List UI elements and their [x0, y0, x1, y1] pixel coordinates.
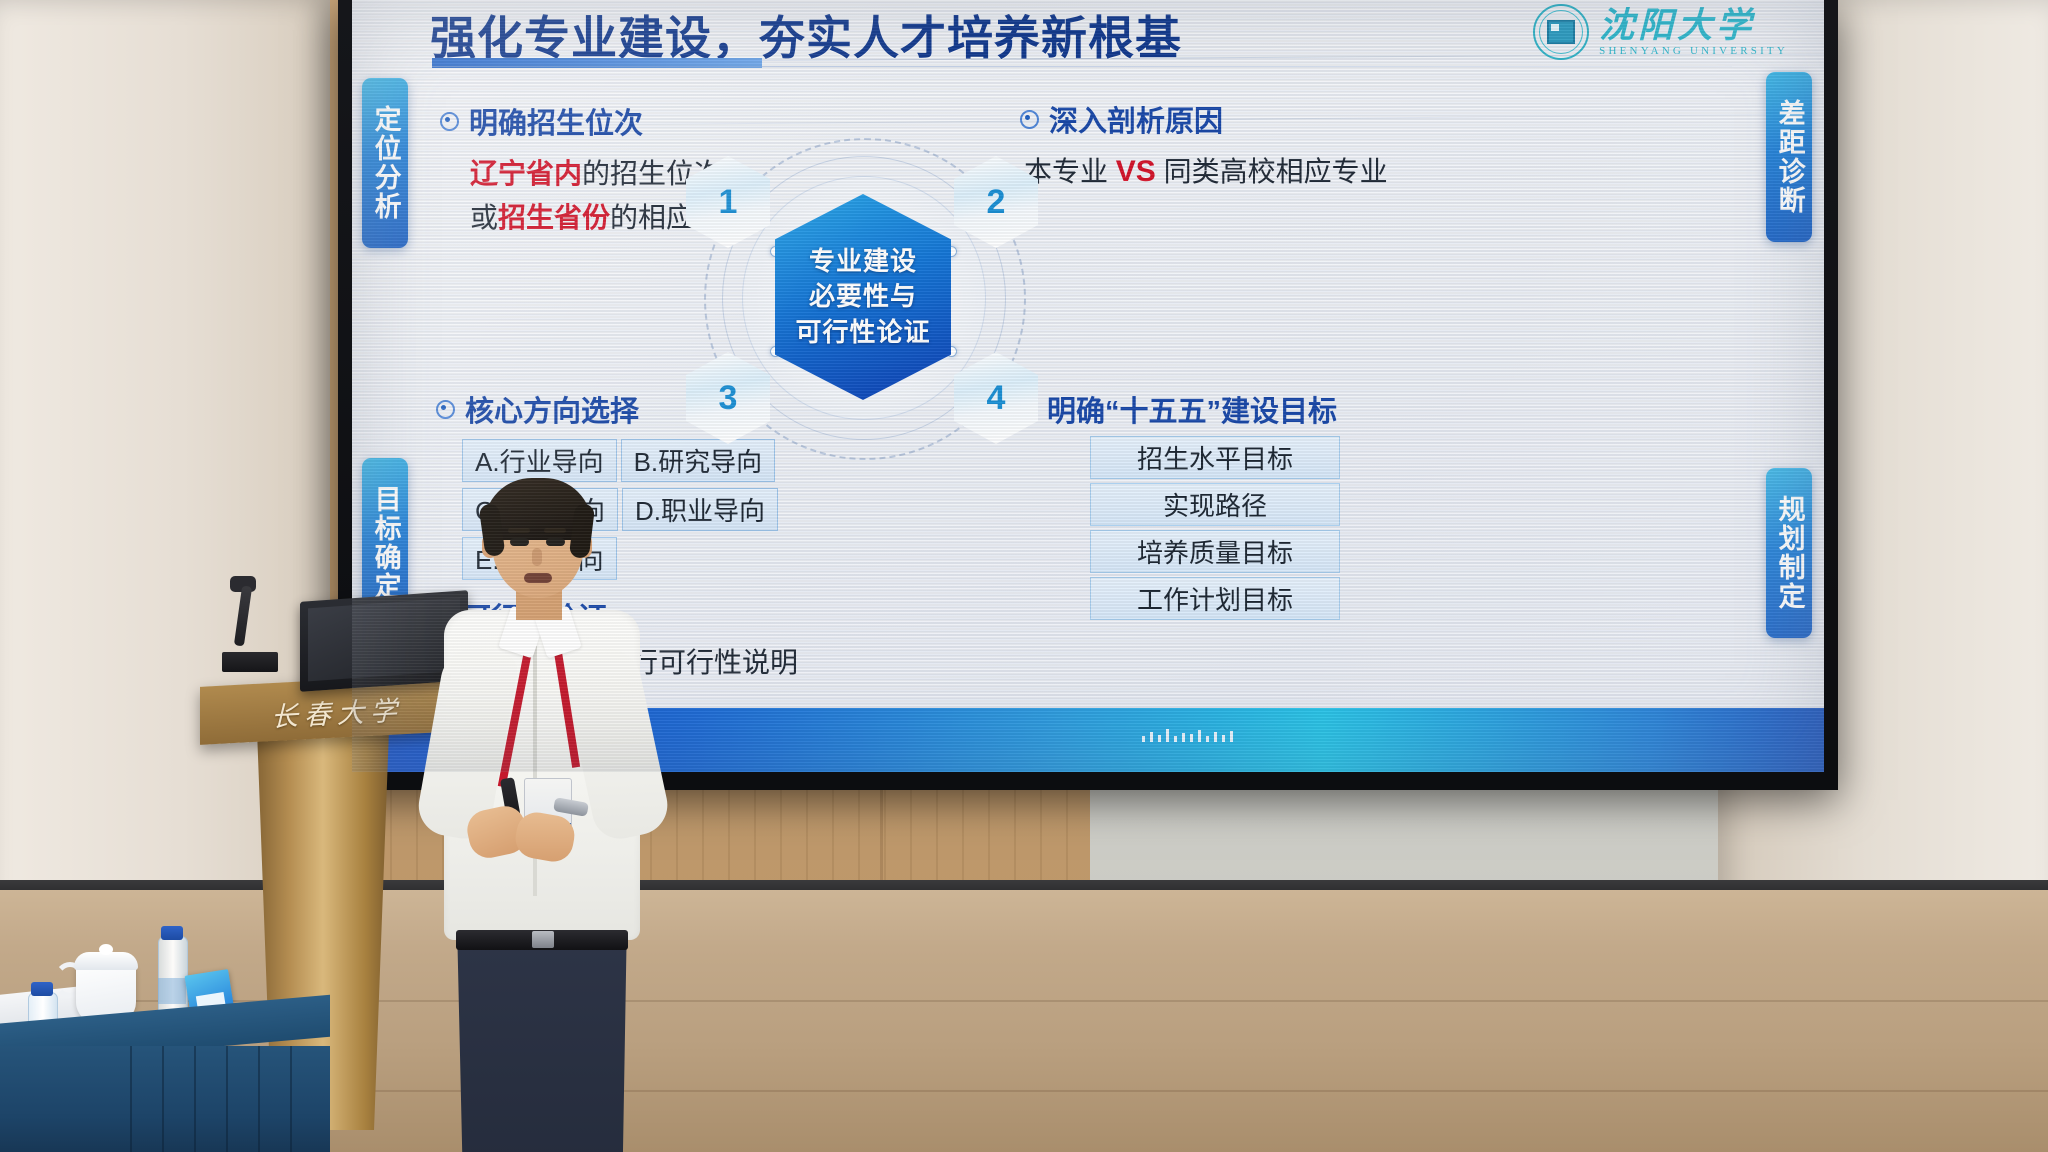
block-heading: 深入剖析原因 [1020, 98, 1388, 140]
block-construction-goals: 明确“十五五”建设目标 招生水平目标 实现路径 培养质量目标 工作计划目标 [1018, 388, 1340, 624]
tick-marks-right [1142, 728, 1233, 742]
belt-buckle [532, 931, 554, 948]
block-heading: 明确招生位次 [440, 100, 750, 142]
cause-line: 本专业 VS 同类高校相应专业 [1024, 150, 1388, 190]
logo-name-en: SHENYANG UNIVERSITY [1599, 45, 1788, 57]
cause-post: 同类高校相应专业 [1156, 156, 1388, 187]
front-table [0, 1010, 330, 1152]
heading-text: 核心方向选择 [465, 388, 639, 430]
podium-nameplate: 长春大学 [262, 688, 412, 735]
core-line-2: 必要性与 [809, 279, 917, 314]
core-line-1: 专业建设 [809, 244, 917, 279]
table-skirt [0, 1046, 330, 1152]
bullet-ring-icon [436, 400, 455, 419]
heading-text: 明确招生位次 [469, 100, 643, 142]
goal-item[interactable]: 招生水平目标 [1090, 436, 1340, 479]
university-logo: 沈阳大学 SHENYANG UNIVERSITY [1533, 4, 1788, 60]
heading-text: 明确“十五五”建设目标 [1047, 388, 1337, 430]
screenshot-stage: 强化专业建设，夯实人才培养新根基 沈阳大学 SHENYANG UNIVERSIT… [0, 0, 2048, 1152]
tab-positioning-analysis[interactable]: 定位分析 [362, 78, 408, 248]
bullet-ring-icon [440, 112, 459, 131]
bottle-cap [161, 926, 183, 940]
presenter-trousers [454, 946, 630, 1152]
heading-text: 深入剖析原因 [1049, 98, 1223, 140]
podium-control-plate[interactable] [222, 652, 278, 672]
goal-item[interactable]: 实现路径 [1090, 483, 1340, 526]
eyebrow-left [508, 528, 530, 533]
goal-list: 招生水平目标 实现路径 培养质量目标 工作计划目标 [1090, 436, 1340, 620]
bottle-cap [31, 982, 53, 996]
goal-item[interactable]: 培养质量目标 [1090, 530, 1340, 573]
tea-cup-knob [99, 944, 113, 955]
emphasis-liaoning: 辽宁省内 [470, 158, 582, 189]
eye-right [546, 538, 565, 546]
presenter [420, 478, 670, 1152]
mouth [524, 573, 552, 583]
eyebrow-right [544, 528, 566, 533]
line2-pre: 或 [470, 202, 498, 233]
option-a[interactable]: A.行业导向 [462, 439, 617, 482]
title-rule [432, 66, 1732, 67]
university-seal-icon [1533, 4, 1589, 60]
bullet-ring-icon [1020, 110, 1039, 129]
block-heading: 明确“十五五”建设目标 [1018, 388, 1340, 430]
tab-plan-formulation[interactable]: 规划制定 [1766, 468, 1812, 638]
book-icon [1547, 20, 1575, 44]
core-line-3: 可行性论证 [795, 315, 930, 350]
emphasis-province: 招生省份 [498, 202, 610, 233]
goal-item[interactable]: 工作计划目标 [1090, 577, 1340, 620]
tab-gap-diagnosis[interactable]: 差距诊断 [1766, 72, 1812, 242]
bottle-label [158, 978, 186, 1004]
center-hex-diagram: 1 2 3 4 专业建设 必要性与 可行性论证 [682, 150, 1042, 450]
logo-name-cn: 沈阳大学 [1599, 8, 1788, 43]
nose [532, 548, 542, 566]
eye-left [510, 538, 529, 546]
block-cause-analysis: 深入剖析原因 本专业 VS 同类高校相应专业 [1020, 98, 1388, 190]
emphasis-vs: VS [1116, 155, 1156, 188]
